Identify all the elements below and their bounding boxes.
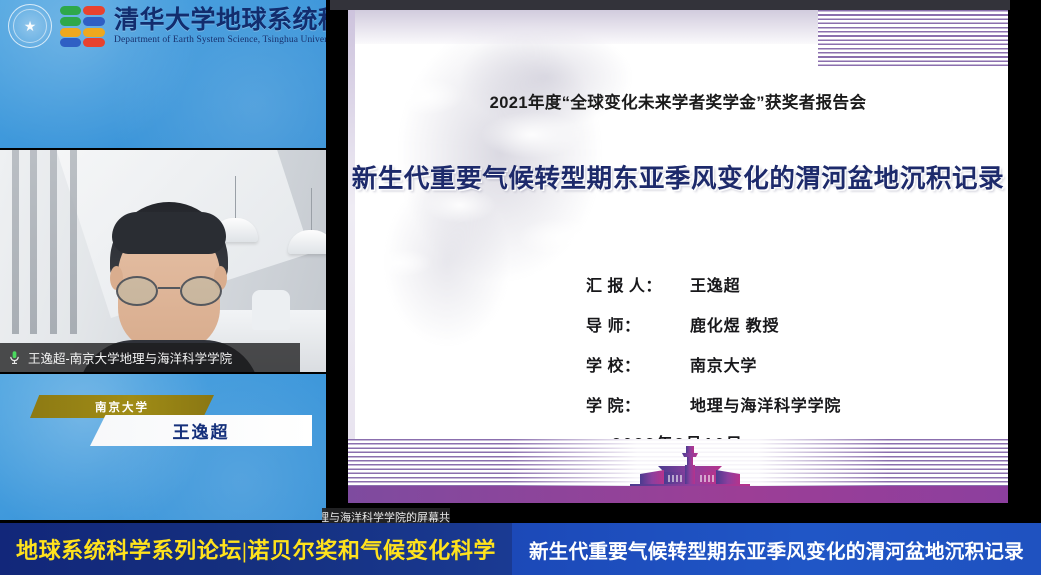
video-name-bar: 王逸超-南京大学地理与海洋科学学院 [0, 343, 300, 372]
top-right-stripes [818, 10, 1008, 68]
affiliation-text: 南京大学 [95, 399, 149, 415]
participant-tile-namecard[interactable]: 南京大学 王逸超 [0, 374, 326, 520]
event-talk-title: 新生代重要气候转型期东亚季风变化的渭河盆地沉积记录 [529, 535, 1024, 564]
organization-name: 清华大学地球系统科学系 Department of Earth System S… [114, 7, 326, 45]
seal-star-glyph: ★ [24, 19, 37, 33]
info-label: 导 师： [586, 312, 690, 336]
event-series-title: 地球系统科学系列论坛|诺贝尔奖和气候变化科学 [16, 533, 496, 565]
video-participant-name: 王逸超-南京大学地理与海洋科学学院 [28, 348, 232, 367]
microphone-icon [7, 349, 22, 366]
shared-slide[interactable]: 2021年度“全球变化未来学者奖学金”获奖者报告会 新生代重要气候转型期东亚季风… [348, 10, 1008, 503]
info-row: 导 师： 鹿化煜 教授 [586, 312, 841, 336]
event-banner: 地球系统科学系列论坛|诺贝尔奖和气候变化科学 新生代重要气候转型期东亚季风变化的… [0, 523, 1041, 575]
event-banner-left: 地球系统科学系列论坛|诺贝尔奖和气候变化科学 [0, 523, 512, 575]
slide-title: 新生代重要气候转型期东亚季风变化的渭河盆地沉积记录 [348, 158, 1008, 195]
info-value: 鹿化煜 教授 [690, 312, 779, 336]
tsinghua-gate-building-icon [630, 444, 750, 486]
pendant-lamp-icon [288, 188, 326, 258]
screen-share-topbar [330, 0, 1041, 10]
slide-info-block: 汇 报 人： 王逸超 导 师： 鹿化煜 教授 学 校： 南京大学 学 院： 地理… [586, 272, 841, 432]
university-seal-icon: ★ [8, 4, 52, 48]
participant-tile-logo[interactable]: ★ 清华大学地球系统科学系 Department of Earth System… [0, 0, 326, 148]
info-row: 学 校： 南京大学 [586, 352, 841, 376]
dna-blocks-icon [59, 4, 107, 48]
info-row: 学 院： 地理与海洋科学学院 [586, 392, 841, 416]
info-value: 南京大学 [690, 352, 757, 376]
info-value: 王逸超 [690, 272, 740, 296]
slide-subtitle: 2021年度“全球变化未来学者奖学金”获奖者报告会 [348, 89, 1008, 113]
glasses-icon [114, 276, 226, 306]
info-row: 汇 报 人： 王逸超 [586, 272, 841, 296]
organization-name-cn: 清华大学地球系统科学系 [114, 7, 326, 33]
event-banner-right: 新生代重要气候转型期东亚季风变化的渭河盆地沉积记录 [512, 523, 1041, 575]
chair-shape [252, 290, 290, 330]
affiliation-ribbon: 南京大学 [30, 395, 214, 418]
info-label: 学 校： [586, 352, 690, 376]
organization-logo: ★ 清华大学地球系统科学系 Department of Earth System… [8, 4, 326, 48]
info-label: 汇 报 人： [586, 272, 690, 296]
speaker-ribbon: 王逸超 [90, 415, 312, 446]
speaker-name-text: 王逸超 [173, 418, 230, 443]
slide-bottom-bar [348, 486, 1008, 503]
participant-tile-video[interactable]: 王逸超-南京大学地理与海洋科学学院 [0, 150, 326, 372]
meeting-screen: ★ 清华大学地球系统科学系 Department of Earth System… [0, 0, 1041, 575]
right-letterbox [1010, 0, 1041, 523]
participant-column: ★ 清华大学地球系统科学系 Department of Earth System… [0, 0, 326, 520]
info-label: 学 院： [586, 392, 690, 416]
info-value: 地理与海洋科学学院 [690, 392, 841, 416]
organization-name-en: Department of Earth System Science, Tsin… [114, 35, 326, 45]
